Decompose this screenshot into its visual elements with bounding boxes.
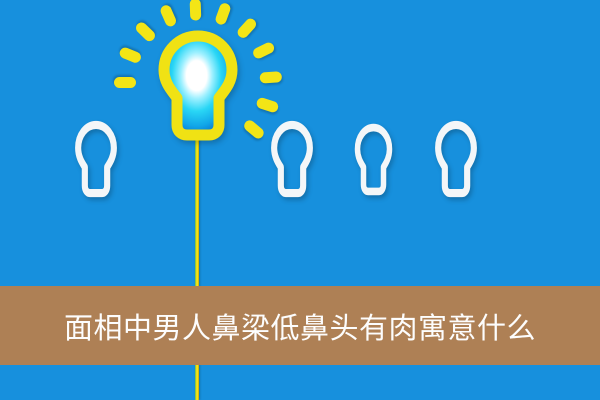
light-ray-icon (114, 77, 136, 88)
light-ray-icon (190, 0, 202, 20)
lightbulb-outline-icon (72, 119, 120, 199)
illustration-canvas: 面相中男人鼻梁低鼻头有肉寓意什么 (0, 0, 600, 400)
light-ray-icon (259, 71, 282, 84)
lightbulb-outline-icon (268, 119, 316, 199)
lightbulb-outline-icon (432, 119, 480, 199)
lightbulb-lit-icon (155, 30, 241, 142)
caption-banner: 面相中男人鼻梁低鼻头有肉寓意什么 (0, 286, 600, 365)
caption-text: 面相中男人鼻梁低鼻头有肉寓意什么 (64, 305, 536, 347)
lightbulb-outline-icon (352, 122, 395, 197)
